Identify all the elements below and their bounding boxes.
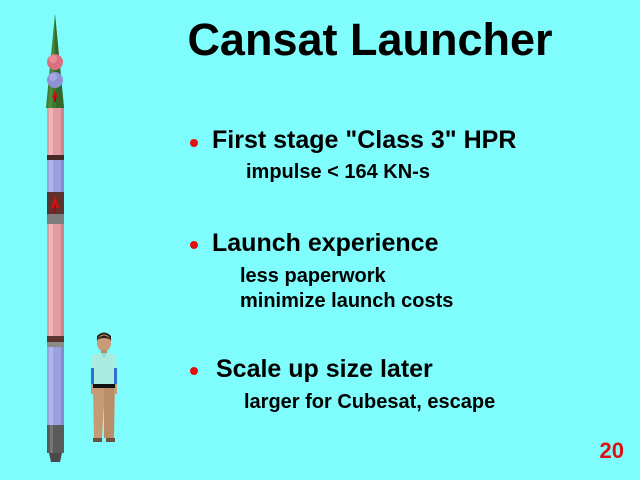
bullet-sub-3-0: larger for Cubesat, escape — [244, 390, 630, 416]
rocket-motor-highlight — [50, 425, 53, 453]
person-pant-shade — [104, 388, 114, 438]
rocket-stage-flame-stem — [54, 205, 56, 213]
bullet-sub-1-0: impulse < 164 KN-s — [246, 160, 630, 186]
person-sleeve-right — [114, 368, 117, 384]
bullet-sub-2-0: less paperwork — [240, 264, 630, 290]
rocket-payload-highlight — [49, 160, 53, 192]
rocket-coupler-gray — [47, 214, 64, 224]
bullet-content-area: First stage "Class 3" HPR impulse < 164 … — [190, 118, 630, 415]
rocket-upper-body-shade — [61, 108, 64, 155]
bullet-sub-2-1: minimize launch costs — [240, 289, 630, 315]
slide-page-number: 20 — [600, 438, 624, 464]
payload-sphere-upper-highlight — [49, 55, 57, 63]
red-dot-bullet-icon — [190, 367, 198, 375]
payload-sphere-lower-highlight — [49, 73, 57, 81]
bullet-subs-1: impulse < 164 KN-s — [190, 160, 630, 186]
rocket-coupler-band-gray — [47, 342, 64, 347]
bullet-item-3: Scale up size later larger for Cubesat, … — [190, 355, 630, 416]
rocket-diagram — [34, 12, 78, 464]
rocket-coupler-band-upper — [47, 155, 64, 160]
bullet-item-2: Launch experience less paperwork minimiz… — [190, 229, 630, 315]
rocket-payload-shade — [61, 160, 64, 192]
bullet-label-3: Scale up size later — [216, 355, 433, 384]
bullet-subs-2: less paperwork minimize launch costs — [190, 264, 630, 315]
person-scale-figure — [82, 326, 126, 444]
person-shoe-right — [106, 438, 115, 442]
bullet-label-2: Launch experience — [212, 229, 438, 258]
bullet-item-1: First stage "Class 3" HPR impulse < 164 … — [190, 126, 630, 186]
person-belt — [93, 384, 115, 388]
red-dot-bullet-icon — [190, 139, 198, 147]
rocket-nozzle — [49, 453, 62, 462]
rocket-upper-body-highlight — [49, 108, 53, 155]
rocket-main-body-shade — [61, 224, 64, 336]
person-sleeve-left — [91, 368, 94, 384]
rocket-motor-housing — [47, 425, 64, 453]
red-dot-bullet-icon — [190, 241, 198, 249]
presentation-slide: Cansat Launcher — [0, 0, 640, 480]
person-shoe-left — [93, 438, 102, 442]
rocket-coupler-band-lower — [47, 336, 64, 342]
rocket-booster-shade — [61, 347, 64, 425]
slide-title: Cansat Launcher — [150, 16, 590, 63]
rocket-main-body-highlight — [49, 224, 53, 336]
nose-flame-stem — [54, 96, 56, 102]
bullet-label-1: First stage "Class 3" HPR — [212, 126, 516, 155]
bullet-subs-3: larger for Cubesat, escape — [190, 390, 630, 416]
rocket-booster-highlight — [49, 347, 53, 425]
